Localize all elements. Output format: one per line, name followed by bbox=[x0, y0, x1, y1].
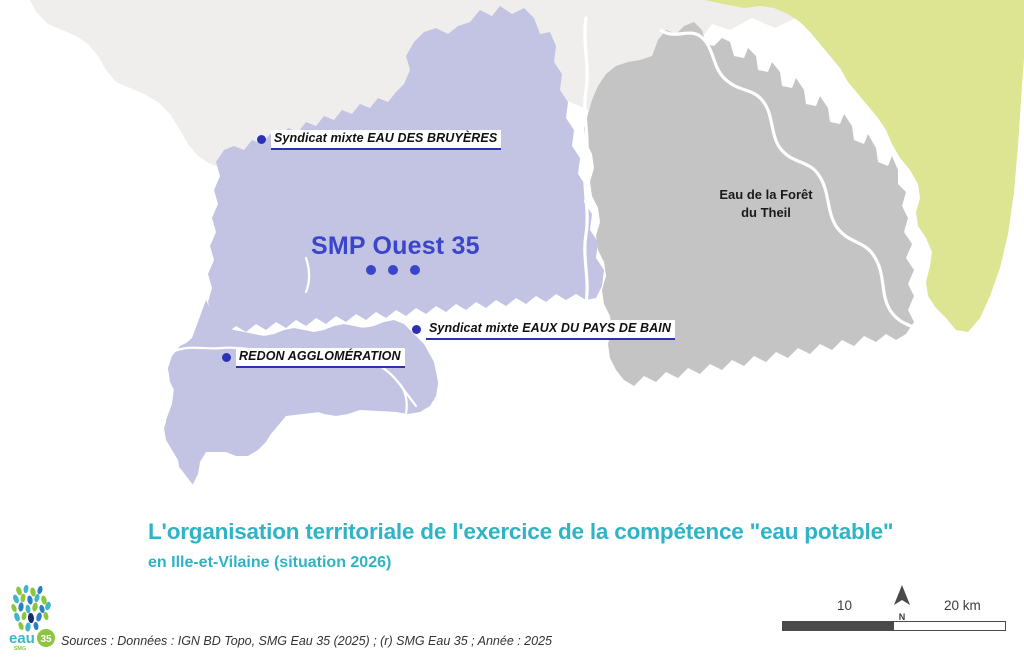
label-text-eau-des-bruyeres: Syndicat mixte EAU DES BRUYÈRES bbox=[271, 130, 501, 150]
logo-smg-text: SMG bbox=[14, 646, 27, 651]
smp-dot-1 bbox=[366, 265, 376, 275]
label-marker-dot bbox=[412, 325, 421, 334]
smp-dot-3 bbox=[410, 265, 420, 275]
map-canvas-detail bbox=[0, 0, 1024, 510]
scale-bar bbox=[782, 621, 1006, 631]
map-poster: Syndicat mixte EAU DES BRUYÈRES SMP Oues… bbox=[0, 0, 1024, 663]
scale-segment-1 bbox=[783, 622, 894, 630]
scale-label-20: 20 km bbox=[944, 598, 981, 613]
label-marker-dot bbox=[222, 353, 231, 362]
logo-35-text: 35 bbox=[40, 634, 52, 645]
label-redon-agglomeration[interactable]: REDON AGGLOMÉRATION bbox=[222, 348, 405, 368]
scale-label-10: 10 bbox=[837, 598, 852, 613]
foret-theil-line1: Eau de la Forêt bbox=[692, 186, 840, 204]
north-arrow-icon bbox=[884, 583, 920, 609]
page-title: L'organisation territoriale de l'exercic… bbox=[148, 519, 893, 545]
north-letter: N bbox=[884, 612, 920, 622]
label-eau-foret-du-theil: Eau de la Forêt du Theil bbox=[692, 186, 840, 221]
smp-ouest-35-dots bbox=[366, 265, 420, 275]
scale-segment-2 bbox=[894, 622, 1005, 630]
smp-dot-2 bbox=[388, 265, 398, 275]
logo-droplets bbox=[10, 584, 52, 631]
sources-note: Sources : Données : IGN BD Topo, SMG Eau… bbox=[61, 634, 552, 648]
logo-eau-text: eau bbox=[9, 630, 35, 647]
label-eau-des-bruyeres[interactable]: Syndicat mixte EAU DES BRUYÈRES bbox=[257, 130, 501, 150]
label-marker-dot bbox=[257, 135, 266, 144]
label-text-eaux-du-pays-de-bain: Syndicat mixte EAUX DU PAYS DE BAIN bbox=[426, 320, 675, 340]
north-arrow: N bbox=[884, 583, 920, 622]
foret-theil-line2: du Theil bbox=[692, 204, 840, 222]
eau35-logo: eau 35 SMG bbox=[6, 583, 62, 651]
smp-ouest-35-title: SMP Ouest 35 bbox=[311, 232, 480, 261]
page-subtitle: en Ille-et-Vilaine (situation 2026) bbox=[148, 554, 391, 572]
label-text-redon-agglomeration: REDON AGGLOMÉRATION bbox=[236, 348, 405, 368]
label-eaux-du-pays-de-bain[interactable]: Syndicat mixte EAUX DU PAYS DE BAIN bbox=[412, 320, 675, 340]
